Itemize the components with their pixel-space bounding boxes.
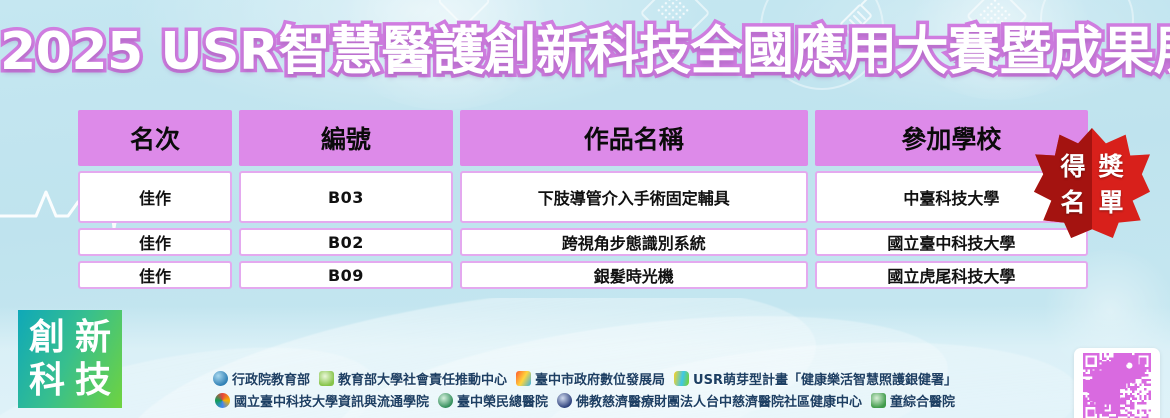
sponsor-label: 童綜合醫院	[890, 391, 955, 410]
tungs-hospital-icon	[871, 393, 886, 408]
logo-char-2: 新	[75, 320, 111, 356]
sponsor-label: 臺中市政府數位發展局	[535, 369, 665, 388]
sponsor-item: 教育部大學社會責任推動中心	[319, 369, 507, 388]
cell-rank: 佳作	[78, 228, 232, 256]
logo-char-1: 創	[29, 320, 65, 356]
badge-char-4: 單	[1098, 190, 1123, 215]
cell-school: 國立虎尾科技大學	[815, 261, 1088, 289]
sponsor-item: 行政院教育部	[213, 369, 310, 388]
taichung-city-icon	[516, 371, 531, 386]
sponsor-label: 教育部大學社會責任推動中心	[338, 369, 507, 388]
award-poster: 2025 USR智慧醫護創新科技全國應用大賽暨成果展 名次 編號 作品名稱 參加…	[0, 0, 1170, 418]
sponsor-footer: 行政院教育部 教育部大學社會責任推動中心 臺中市政府數位發展局 USR萌芽型計畫…	[0, 369, 1170, 410]
cell-rank: 佳作	[78, 171, 232, 223]
table-row: 佳作 B09 銀髮時光機 國立虎尾科技大學	[78, 261, 1088, 289]
results-table: 名次 編號 作品名稱 參加學校 佳作 B03 下肢導管介入手術固定輔具 中臺科技…	[78, 110, 1088, 289]
sponsor-item: 臺中榮民總醫院	[438, 391, 548, 410]
header-code: 編號	[239, 110, 453, 166]
cell-project-name: 銀髮時光機	[460, 261, 808, 289]
sponsor-label: 國立臺中科技大學資訊與流通學院	[234, 391, 429, 410]
taichung-vgh-icon	[438, 393, 453, 408]
cell-project-name: 下肢導管介入手術固定輔具	[460, 171, 808, 223]
header-rank: 名次	[78, 110, 232, 166]
sponsor-label: 佛教慈濟醫療財團法人台中慈濟醫院社區健康中心	[576, 391, 862, 410]
cell-rank: 佳作	[78, 261, 232, 289]
poster-title: 2025 USR智慧醫護創新科技全國應用大賽暨成果展	[0, 23, 1170, 81]
badge-char-1: 得	[1060, 154, 1085, 179]
award-list-badge-text: 得 獎 名 單	[1034, 128, 1150, 238]
sponsor-line-1: 行政院教育部 教育部大學社會責任推動中心 臺中市政府數位發展局 USR萌芽型計畫…	[213, 369, 957, 388]
moe-emblem-icon	[213, 371, 228, 386]
nutc-icon	[215, 393, 230, 408]
table-row: 佳作 B02 跨視角步態識別系統 國立臺中科技大學	[78, 228, 1088, 256]
cell-code: B09	[239, 261, 453, 289]
sponsor-item: 國立臺中科技大學資訊與流通學院	[215, 391, 429, 410]
cell-code: B03	[239, 171, 453, 223]
tzuchi-hospital-icon	[557, 393, 572, 408]
sponsor-label: USR萌芽型計畫「健康樂活智慧照護銀健署」	[693, 369, 957, 388]
award-list-badge: 得 獎 名 單	[1034, 128, 1150, 238]
sponsor-item: 童綜合醫院	[871, 391, 955, 410]
sponsor-line-2: 國立臺中科技大學資訊與流通學院 臺中榮民總醫院 佛教慈濟醫療財團法人台中慈濟醫院…	[215, 391, 955, 410]
dinosaur-logo-icon	[1079, 352, 1155, 418]
sponsor-item: 佛教慈濟醫療財團法人台中慈濟醫院社區健康中心	[557, 391, 862, 410]
qr-code[interactable]	[1079, 353, 1155, 418]
cell-project-name: 跨視角步態識別系統	[460, 228, 808, 256]
badge-char-3: 名	[1060, 190, 1085, 215]
qr-code-card[interactable]	[1074, 348, 1160, 418]
cell-code: B02	[239, 228, 453, 256]
badge-char-2: 獎	[1098, 154, 1123, 179]
table-row: 佳作 B03 下肢導管介入手術固定輔具 中臺科技大學	[78, 171, 1088, 223]
sponsor-label: 臺中榮民總醫院	[457, 391, 548, 410]
sponsor-item: 臺中市政府數位發展局	[516, 369, 665, 388]
header-project-name: 作品名稱	[460, 110, 808, 166]
usr-sprout-icon	[674, 371, 689, 386]
usr-center-icon	[319, 371, 334, 386]
sponsor-label: 行政院教育部	[232, 369, 310, 388]
table-header-row: 名次 編號 作品名稱 參加學校	[78, 110, 1088, 166]
sponsor-item: USR萌芽型計畫「健康樂活智慧照護銀健署」	[674, 369, 957, 388]
